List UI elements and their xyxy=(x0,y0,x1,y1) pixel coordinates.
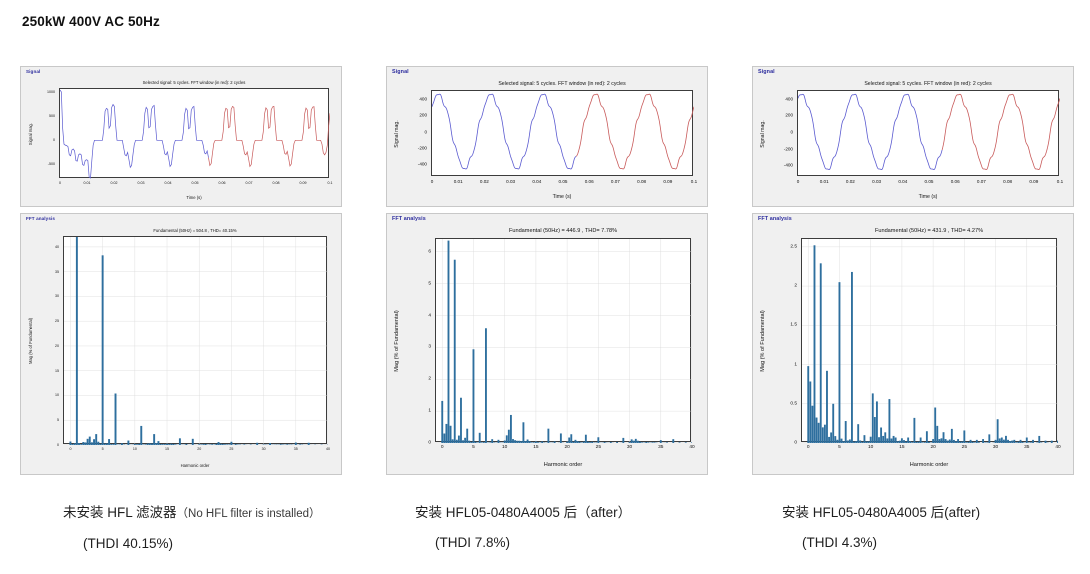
x-tick-label: 0.09 xyxy=(300,181,307,185)
x-tick-label: 0.05 xyxy=(192,181,199,185)
x-tick-label: 10 xyxy=(133,447,137,451)
signal-axes-1: Selected signal: 5 cycles. FFT window (i… xyxy=(431,90,693,176)
y-tick-label: 0 xyxy=(428,441,431,446)
y-tick-label: 40 xyxy=(55,245,59,249)
caption-0: 未安装 HFL 滤波器（No HFL filter is installed） … xyxy=(63,498,321,559)
signal-panel-1: Signal Selected signal: 5 cycles. FFT wi… xyxy=(386,66,708,207)
y-tick-label: 1 xyxy=(794,362,797,367)
x-tick-label: 0.07 xyxy=(977,179,986,184)
signal-panel-legend: Signal xyxy=(758,69,775,75)
x-tick-label: 0.1 xyxy=(1057,179,1063,184)
x-tick-label: 0.1 xyxy=(328,181,333,185)
y-tick-label: 1.5 xyxy=(790,323,797,328)
signal-panel-2: Signal Selected signal: 5 cycles. FFT wi… xyxy=(752,66,1074,207)
x-tick-label: 5 xyxy=(102,447,104,451)
y-tick-label: 25 xyxy=(55,319,59,323)
y-tick-label: 2 xyxy=(794,284,797,289)
x-tick-label: 20 xyxy=(930,445,935,450)
y-tick-label: 0 xyxy=(790,129,793,134)
y-tick-label: 10 xyxy=(55,393,59,397)
x-tick-label: 35 xyxy=(294,447,298,451)
x-tick-label: 35 xyxy=(1024,445,1029,450)
signal-axes-0: Selected signal: 5 cycles. FFT window (i… xyxy=(59,88,329,178)
x-tick-label: 0 xyxy=(797,179,800,184)
x-tick-label: 15 xyxy=(533,445,538,450)
axes-title: Fundamental (50Hz) = 431.9 , THD= 4.27% xyxy=(802,228,1056,234)
x-tick-label: 0.06 xyxy=(951,179,960,184)
x-tick-label: 30 xyxy=(627,445,632,450)
x-tick-label: 0.02 xyxy=(846,179,855,184)
y-tick-label: 400 xyxy=(785,96,793,101)
caption-english: （No HFL filter is installed） xyxy=(177,508,321,520)
x-tick-label: 0.08 xyxy=(273,181,280,185)
y-tick-label: 400 xyxy=(419,97,427,102)
axes-title: Fundamental (50Hz) = 504.8 , THD= 40.15% xyxy=(64,228,326,233)
fft-axes-2: Fundamental (50Hz) = 431.9 , THD= 4.27%M… xyxy=(801,238,1057,442)
y-axis-label: Mag (% of Fundamental) xyxy=(760,310,766,372)
plot-canvas xyxy=(432,91,694,177)
x-tick-label: 0.09 xyxy=(1029,179,1038,184)
caption-thdi: (THDI 7.8%) xyxy=(415,528,631,558)
fft-panel-legend: FFT analysis xyxy=(758,216,792,222)
x-tick-label: 40 xyxy=(689,445,694,450)
caption-english: (after) xyxy=(944,505,980,520)
y-tick-label: 2.5 xyxy=(790,244,797,249)
x-tick-label: 0.02 xyxy=(480,179,489,184)
y-tick-label: 4 xyxy=(428,313,431,318)
fft-panel-legend: FFT analysis xyxy=(26,216,55,221)
signal-panel-legend: Signal xyxy=(392,69,409,75)
caption-thdi: (THDI 4.3%) xyxy=(782,528,980,558)
x-tick-label: 0.01 xyxy=(454,179,463,184)
x-axis-label: Time (s) xyxy=(60,195,328,200)
x-tick-label: 25 xyxy=(229,447,233,451)
x-tick-label: 0 xyxy=(441,445,444,450)
axes-title: Selected signal: 5 cycles. FFT window (i… xyxy=(432,81,692,87)
x-axis-label: Harmonic order xyxy=(64,463,326,468)
plot-canvas xyxy=(64,237,328,445)
y-tick-label: 200 xyxy=(785,113,793,118)
fft-panel-legend: FFT analysis xyxy=(392,216,426,222)
y-axis-label: Signal mag. xyxy=(394,120,400,147)
y-tick-label: 5 xyxy=(57,418,59,422)
y-axis-label: Signal mag. xyxy=(760,120,766,147)
y-tick-label: 3 xyxy=(428,345,431,350)
y-tick-label: -500 xyxy=(48,162,55,166)
x-tick-label: 0.01 xyxy=(84,181,91,185)
x-tick-label: 0.04 xyxy=(532,179,541,184)
x-tick-label: 5 xyxy=(838,445,841,450)
x-tick-label: 35 xyxy=(658,445,663,450)
x-tick-label: 0.1 xyxy=(691,179,697,184)
y-tick-label: 1000 xyxy=(47,90,55,94)
x-axis-label: Time (s) xyxy=(798,194,1058,200)
x-tick-label: 10 xyxy=(868,445,873,450)
caption-1: 安装 HFL05-0480A4005 后（after） (THDI 7.8%) xyxy=(415,498,631,558)
x-tick-label: 30 xyxy=(262,447,266,451)
plot-canvas xyxy=(60,89,330,179)
fft-panel-2: FFT analysis Fundamental (50Hz) = 431.9 … xyxy=(752,213,1074,475)
y-tick-label: -400 xyxy=(418,162,427,167)
caption-thdi: (THDI 40.15%) xyxy=(63,529,321,559)
axes-title: Selected signal: 5 cycles. FFT window (i… xyxy=(60,80,328,85)
plot-canvas xyxy=(436,239,692,443)
y-axis-label: Signal mag. xyxy=(28,123,33,145)
fft-axes-1: Fundamental (50Hz) = 446.9 , THD= 7.78%M… xyxy=(435,238,691,442)
x-tick-label: 0.07 xyxy=(246,181,253,185)
x-tick-label: 0 xyxy=(431,179,434,184)
x-tick-label: 0.04 xyxy=(165,181,172,185)
x-tick-label: 0.02 xyxy=(111,181,118,185)
x-tick-label: 0.03 xyxy=(506,179,515,184)
x-tick-label: 40 xyxy=(1055,445,1060,450)
x-tick-label: 0.05 xyxy=(559,179,568,184)
y-tick-label: 500 xyxy=(49,114,55,118)
caption-chinese: 安装 HFL05-0480A4005 后 xyxy=(415,505,577,520)
x-axis-label: Harmonic order xyxy=(436,462,690,468)
y-tick-label: -200 xyxy=(784,146,793,151)
x-tick-label: 0 xyxy=(59,181,61,185)
y-tick-label: 1 xyxy=(428,409,431,414)
x-tick-label: 5 xyxy=(472,445,475,450)
x-tick-label: 0.03 xyxy=(138,181,145,185)
x-axis-label: Harmonic order xyxy=(802,462,1056,468)
caption-chinese: 安装 HFL05-0480A4005 后 xyxy=(782,505,944,520)
x-tick-label: 25 xyxy=(596,445,601,450)
x-tick-label: 20 xyxy=(197,447,201,451)
x-tick-label: 0.05 xyxy=(925,179,934,184)
y-tick-label: 35 xyxy=(55,270,59,274)
x-tick-label: 0.03 xyxy=(872,179,881,184)
y-tick-label: 2 xyxy=(428,377,431,382)
y-tick-label: 0.5 xyxy=(790,401,797,406)
x-tick-label: 0.01 xyxy=(820,179,829,184)
caption-2: 安装 HFL05-0480A4005 后(after) (THDI 4.3%) xyxy=(782,498,980,558)
x-tick-label: 20 xyxy=(564,445,569,450)
y-tick-label: 200 xyxy=(419,113,427,118)
x-tick-label: 0.06 xyxy=(585,179,594,184)
y-tick-label: -400 xyxy=(784,163,793,168)
y-tick-label: -200 xyxy=(418,145,427,150)
x-tick-label: 0.04 xyxy=(898,179,907,184)
x-tick-label: 0 xyxy=(807,445,810,450)
fft-panel-0: FFT analysis Fundamental (50Hz) = 504.8 … xyxy=(20,213,342,475)
measurement-column-1: Signal Selected signal: 5 cycles. FFT wi… xyxy=(386,66,708,475)
signal-axes-2: Selected signal: 5 cycles. FFT window (i… xyxy=(797,90,1059,176)
y-tick-label: 0 xyxy=(57,443,59,447)
caption-chinese: 未安装 HFL 滤波器 xyxy=(63,505,177,520)
x-tick-label: 0 xyxy=(69,447,71,451)
axes-title: Fundamental (50Hz) = 446.9 , THD= 7.78% xyxy=(436,228,690,234)
plot-canvas xyxy=(798,91,1060,177)
x-tick-label: 0.08 xyxy=(1003,179,1012,184)
caption-english: （after） xyxy=(577,505,631,520)
y-axis-label: Mag (% of Fundamental) xyxy=(28,318,33,364)
y-tick-label: 30 xyxy=(55,294,59,298)
measurement-column-0: Signal Selected signal: 5 cycles. FFT wi… xyxy=(20,66,342,475)
x-tick-label: 0.06 xyxy=(219,181,226,185)
x-axis-label: Time (s) xyxy=(432,194,692,200)
plot-canvas xyxy=(802,239,1058,443)
y-axis-label: Mag (% of Fundamental) xyxy=(394,310,400,372)
measurement-column-2: Signal Selected signal: 5 cycles. FFT wi… xyxy=(752,66,1074,475)
y-tick-label: 5 xyxy=(428,281,431,286)
x-tick-label: 15 xyxy=(899,445,904,450)
x-tick-label: 10 xyxy=(502,445,507,450)
signal-panel-0: Signal Selected signal: 5 cycles. FFT wi… xyxy=(20,66,342,207)
x-tick-label: 40 xyxy=(326,447,330,451)
y-tick-label: 0 xyxy=(53,138,55,142)
y-tick-label: 6 xyxy=(428,249,431,254)
y-tick-label: 0 xyxy=(794,441,797,446)
y-tick-label: 15 xyxy=(55,369,59,373)
y-tick-label: 20 xyxy=(55,344,59,348)
y-tick-label: 0 xyxy=(424,129,427,134)
page-title: 250kW 400V AC 50Hz xyxy=(22,14,160,29)
x-tick-label: 25 xyxy=(962,445,967,450)
x-tick-label: 15 xyxy=(165,447,169,451)
x-tick-label: 30 xyxy=(993,445,998,450)
fft-axes-0: Fundamental (50Hz) = 504.8 , THD= 40.15%… xyxy=(63,236,327,444)
x-tick-label: 0.08 xyxy=(637,179,646,184)
x-tick-label: 0.07 xyxy=(611,179,620,184)
axes-title: Selected signal: 5 cycles. FFT window (i… xyxy=(798,81,1058,87)
signal-panel-legend: Signal xyxy=(26,69,40,74)
x-tick-label: 0.09 xyxy=(663,179,672,184)
fft-panel-1: FFT analysis Fundamental (50Hz) = 446.9 … xyxy=(386,213,708,475)
